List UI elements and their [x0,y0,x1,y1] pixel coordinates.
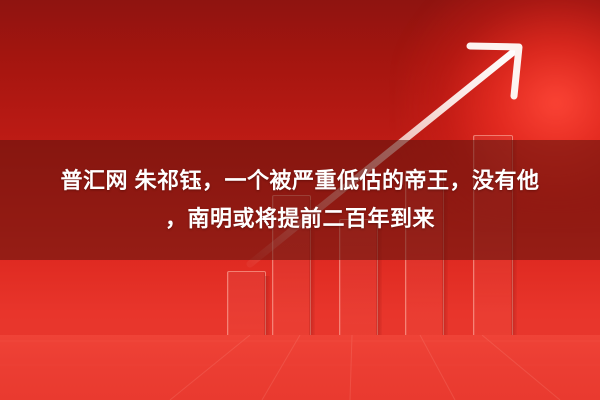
caption-line-2: ，南明或将提前二百年到来 [165,200,435,238]
caption-text: 普汇网 朱祁钰，一个被严重低估的帝王，没有他 ，南明或将提前二百年到来 [0,140,600,260]
bar-1 [227,271,266,335]
caption-line-1: 普汇网 朱祁钰，一个被严重低估的帝王，没有他 [60,162,539,200]
banner-image: 普汇网 朱祁钰，一个被严重低估的帝王，没有他 ，南明或将提前二百年到来 [0,0,600,400]
